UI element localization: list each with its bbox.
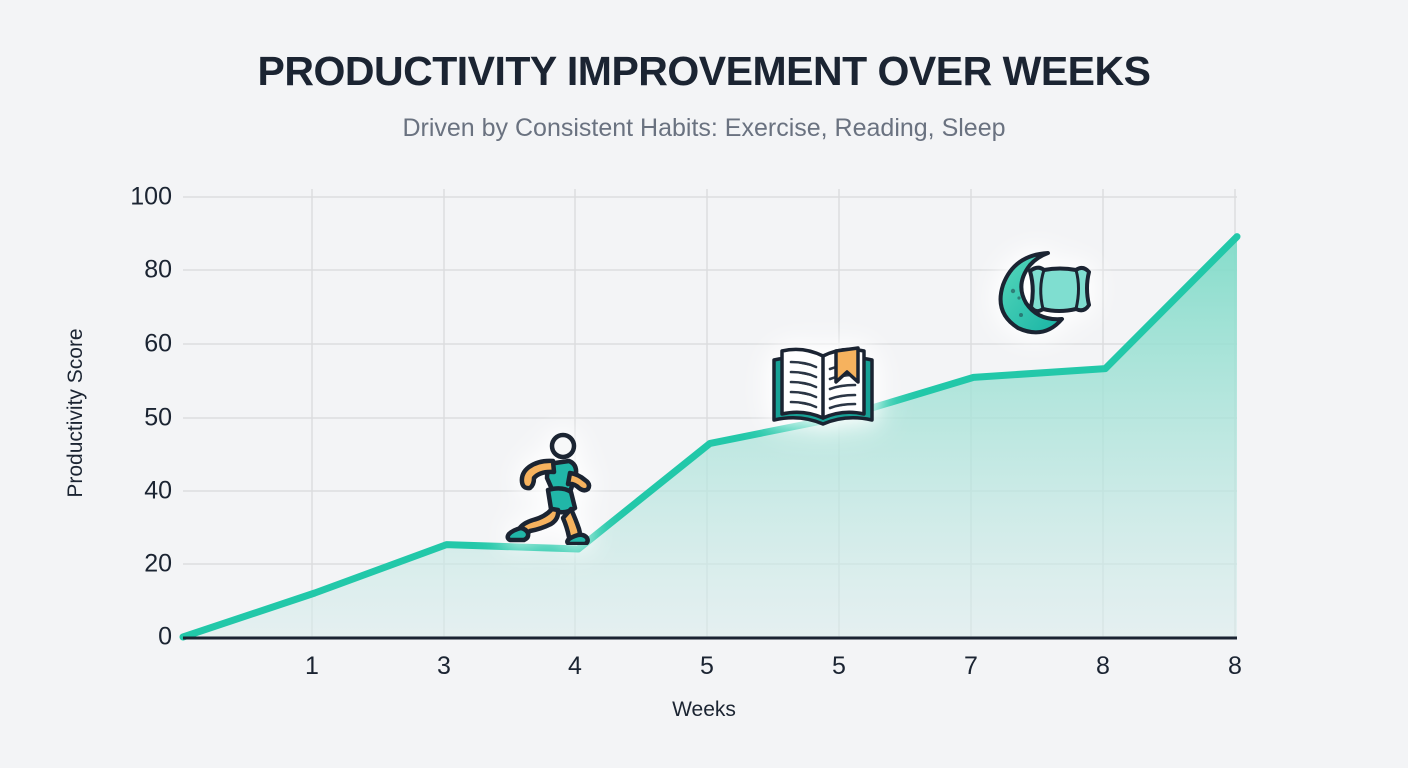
moon-pillow-icon <box>986 243 1096 338</box>
open-book-icon <box>766 338 880 433</box>
productivity-area-chart: PRODUCTIVITY IMPROVEMENT OVER WEEKS Driv… <box>0 0 1408 768</box>
running-person-icon <box>497 430 593 545</box>
plot-area <box>0 0 1408 768</box>
